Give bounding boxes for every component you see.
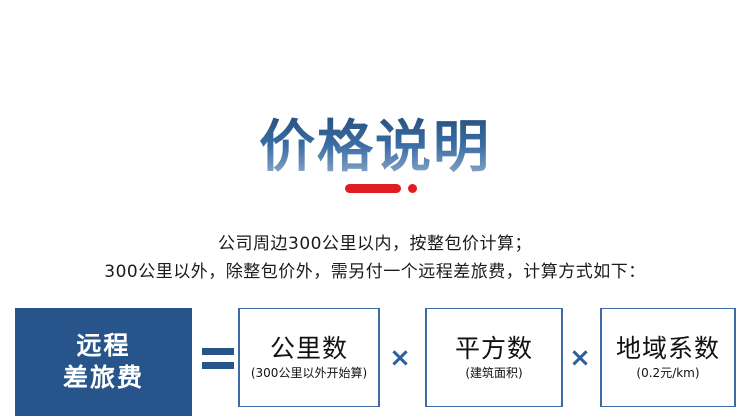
formula-factor-label-2: 平方数 bbox=[455, 334, 533, 364]
multiply-icon-2: × bbox=[566, 344, 594, 372]
formula-factor-label-1: 公里数 bbox=[270, 334, 348, 364]
description-block: 公司周边300公里以内，按整包价计算； 300公里以外，除整包价外，需另付一个远… bbox=[0, 230, 750, 286]
formula-factor-box-1: 公里数 (300公里以外开始算) bbox=[238, 308, 380, 407]
page-title-container: 价格说明 bbox=[0, 78, 750, 217]
equals-icon bbox=[202, 348, 234, 370]
formula-result-line-1: 远程 bbox=[76, 330, 130, 362]
formula-factor-note-2: (建筑面积) bbox=[465, 364, 522, 382]
formula-row: 远程 差旅费 公里数 (300公里以外开始算) × 平方数 (建筑面积) × 地… bbox=[0, 308, 750, 416]
formula-factor-note-1: (300公里以外开始算) bbox=[251, 364, 367, 382]
description-line-1: 公司周边300公里以内，按整包价计算； bbox=[0, 230, 750, 258]
formula-result-box: 远程 差旅费 bbox=[15, 308, 192, 416]
divider-bar-icon bbox=[345, 184, 401, 193]
title-divider bbox=[0, 181, 750, 195]
multiply-icon-1: × bbox=[386, 344, 414, 372]
formula-factor-box-3: 地域系数 (0.2元/km) bbox=[600, 308, 736, 407]
formula-factor-note-3: (0.2元/km) bbox=[636, 364, 699, 382]
page-title: 价格说明 bbox=[259, 116, 491, 180]
formula-factor-box-2: 平方数 (建筑面积) bbox=[425, 308, 563, 407]
formula-result-line-2: 差旅费 bbox=[63, 362, 144, 394]
formula-factor-label-3: 地域系数 bbox=[616, 334, 720, 364]
divider-dot-icon bbox=[408, 184, 417, 193]
description-line-2: 300公里以外，除整包价外，需另付一个远程差旅费，计算方式如下： bbox=[0, 258, 750, 286]
price-explanation-page: 价格说明 公司周边300公里以内，按整包价计算； 300公里以外，除整包价外，需… bbox=[0, 0, 750, 416]
